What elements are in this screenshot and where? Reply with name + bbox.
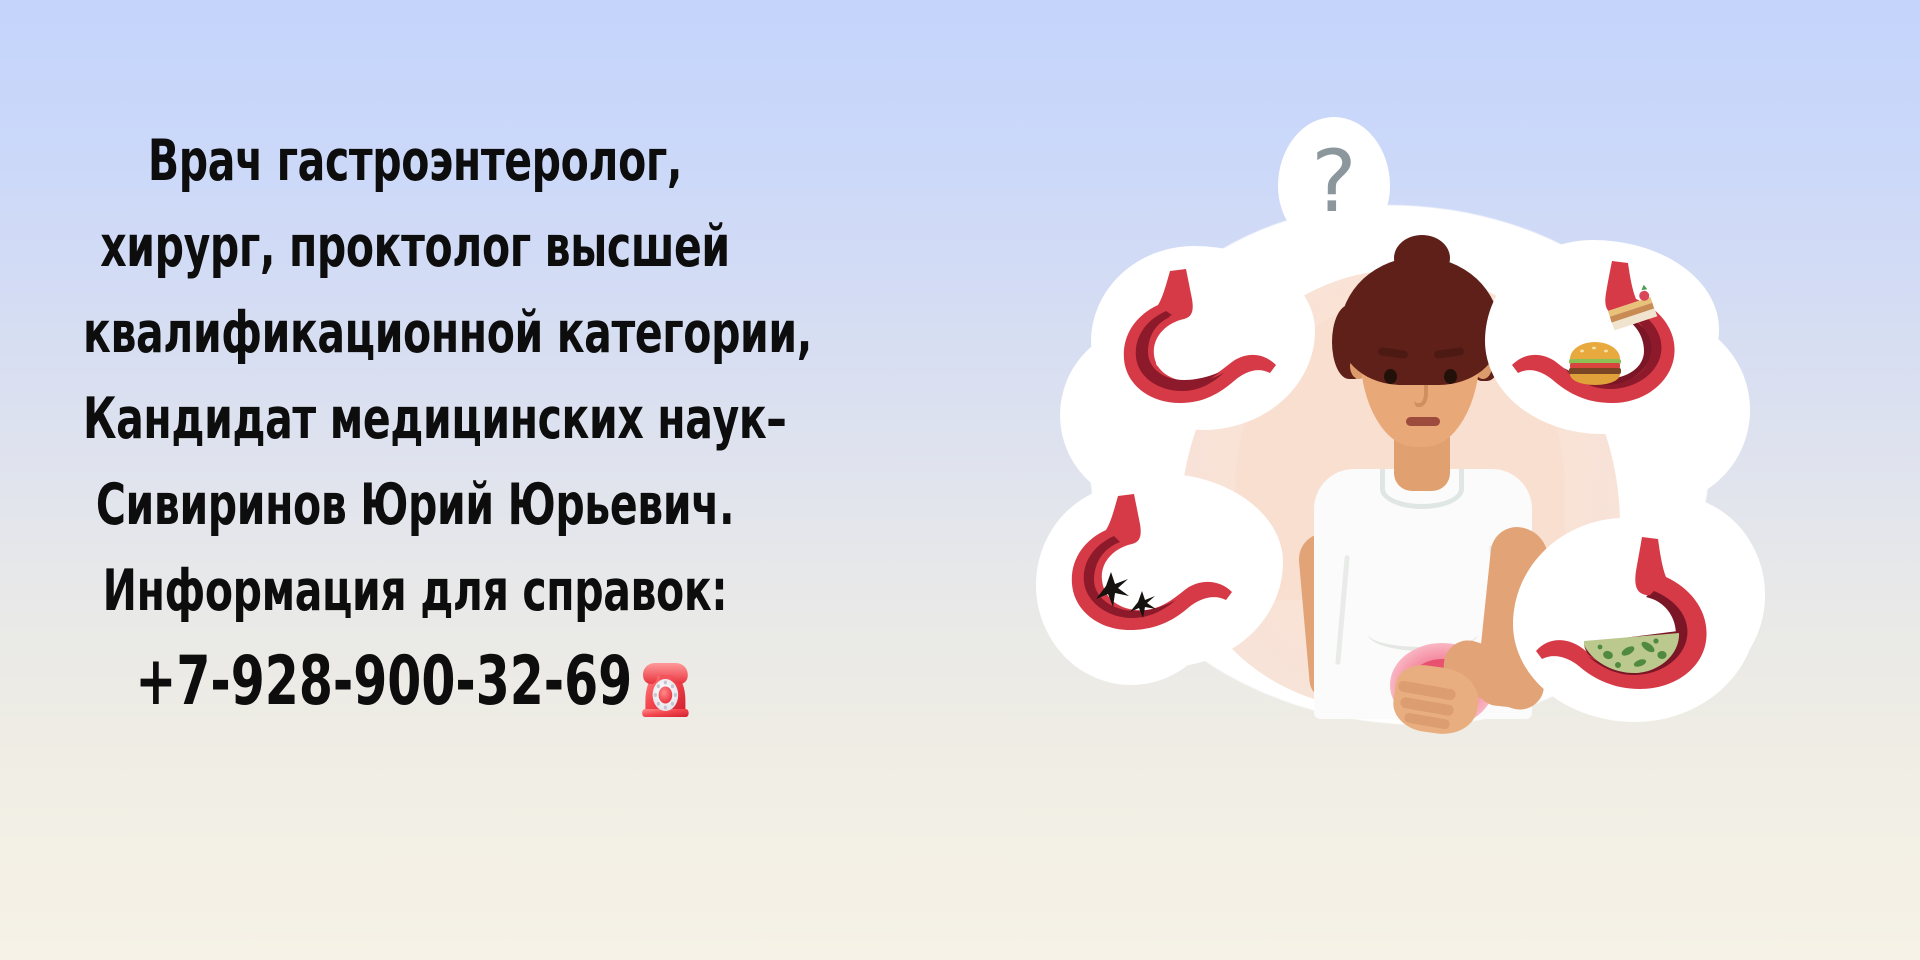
telephone-icon	[635, 651, 694, 725]
eye-right	[1444, 369, 1457, 384]
stomach-junk-food	[1502, 257, 1702, 417]
phone-number[interactable]: +7-928-900-32-69	[135, 634, 632, 730]
phone-line: +7-928-900-32-69	[83, 634, 747, 730]
stomach-ulcer-stars	[1066, 490, 1266, 650]
promo-line-5: Сивиринов Юрий Юрьевич.	[83, 462, 747, 548]
stomach-bacteria	[1530, 535, 1740, 705]
promo-line-1: Врач гастроэнтеролог,	[83, 118, 747, 204]
promo-line-6: Информация для справок:	[83, 548, 747, 634]
illustration: ?	[1030, 95, 1770, 735]
stomach-inflamed-dots	[1108, 263, 1298, 413]
promo-line-4: Кандидат медицинских наук–	[83, 376, 747, 462]
hair-bun	[1394, 235, 1450, 281]
phone-row: +7-928-900-32-69	[135, 634, 694, 730]
shirt-collar	[1380, 469, 1464, 509]
promo-text-block: Врач гастроэнтеролог, хирург, проктолог …	[0, 118, 830, 730]
promo-line-3: квалификационной категории,	[83, 290, 747, 376]
bottom-band	[0, 898, 1920, 960]
eye-left	[1384, 369, 1397, 384]
poster-canvas: Врач гастроэнтеролог, хирург, проктолог …	[0, 0, 1920, 960]
promo-line-2: хирург, проктолог высшей	[83, 204, 747, 290]
mouth	[1406, 417, 1440, 426]
question-mark-icon: ?	[1278, 121, 1390, 243]
